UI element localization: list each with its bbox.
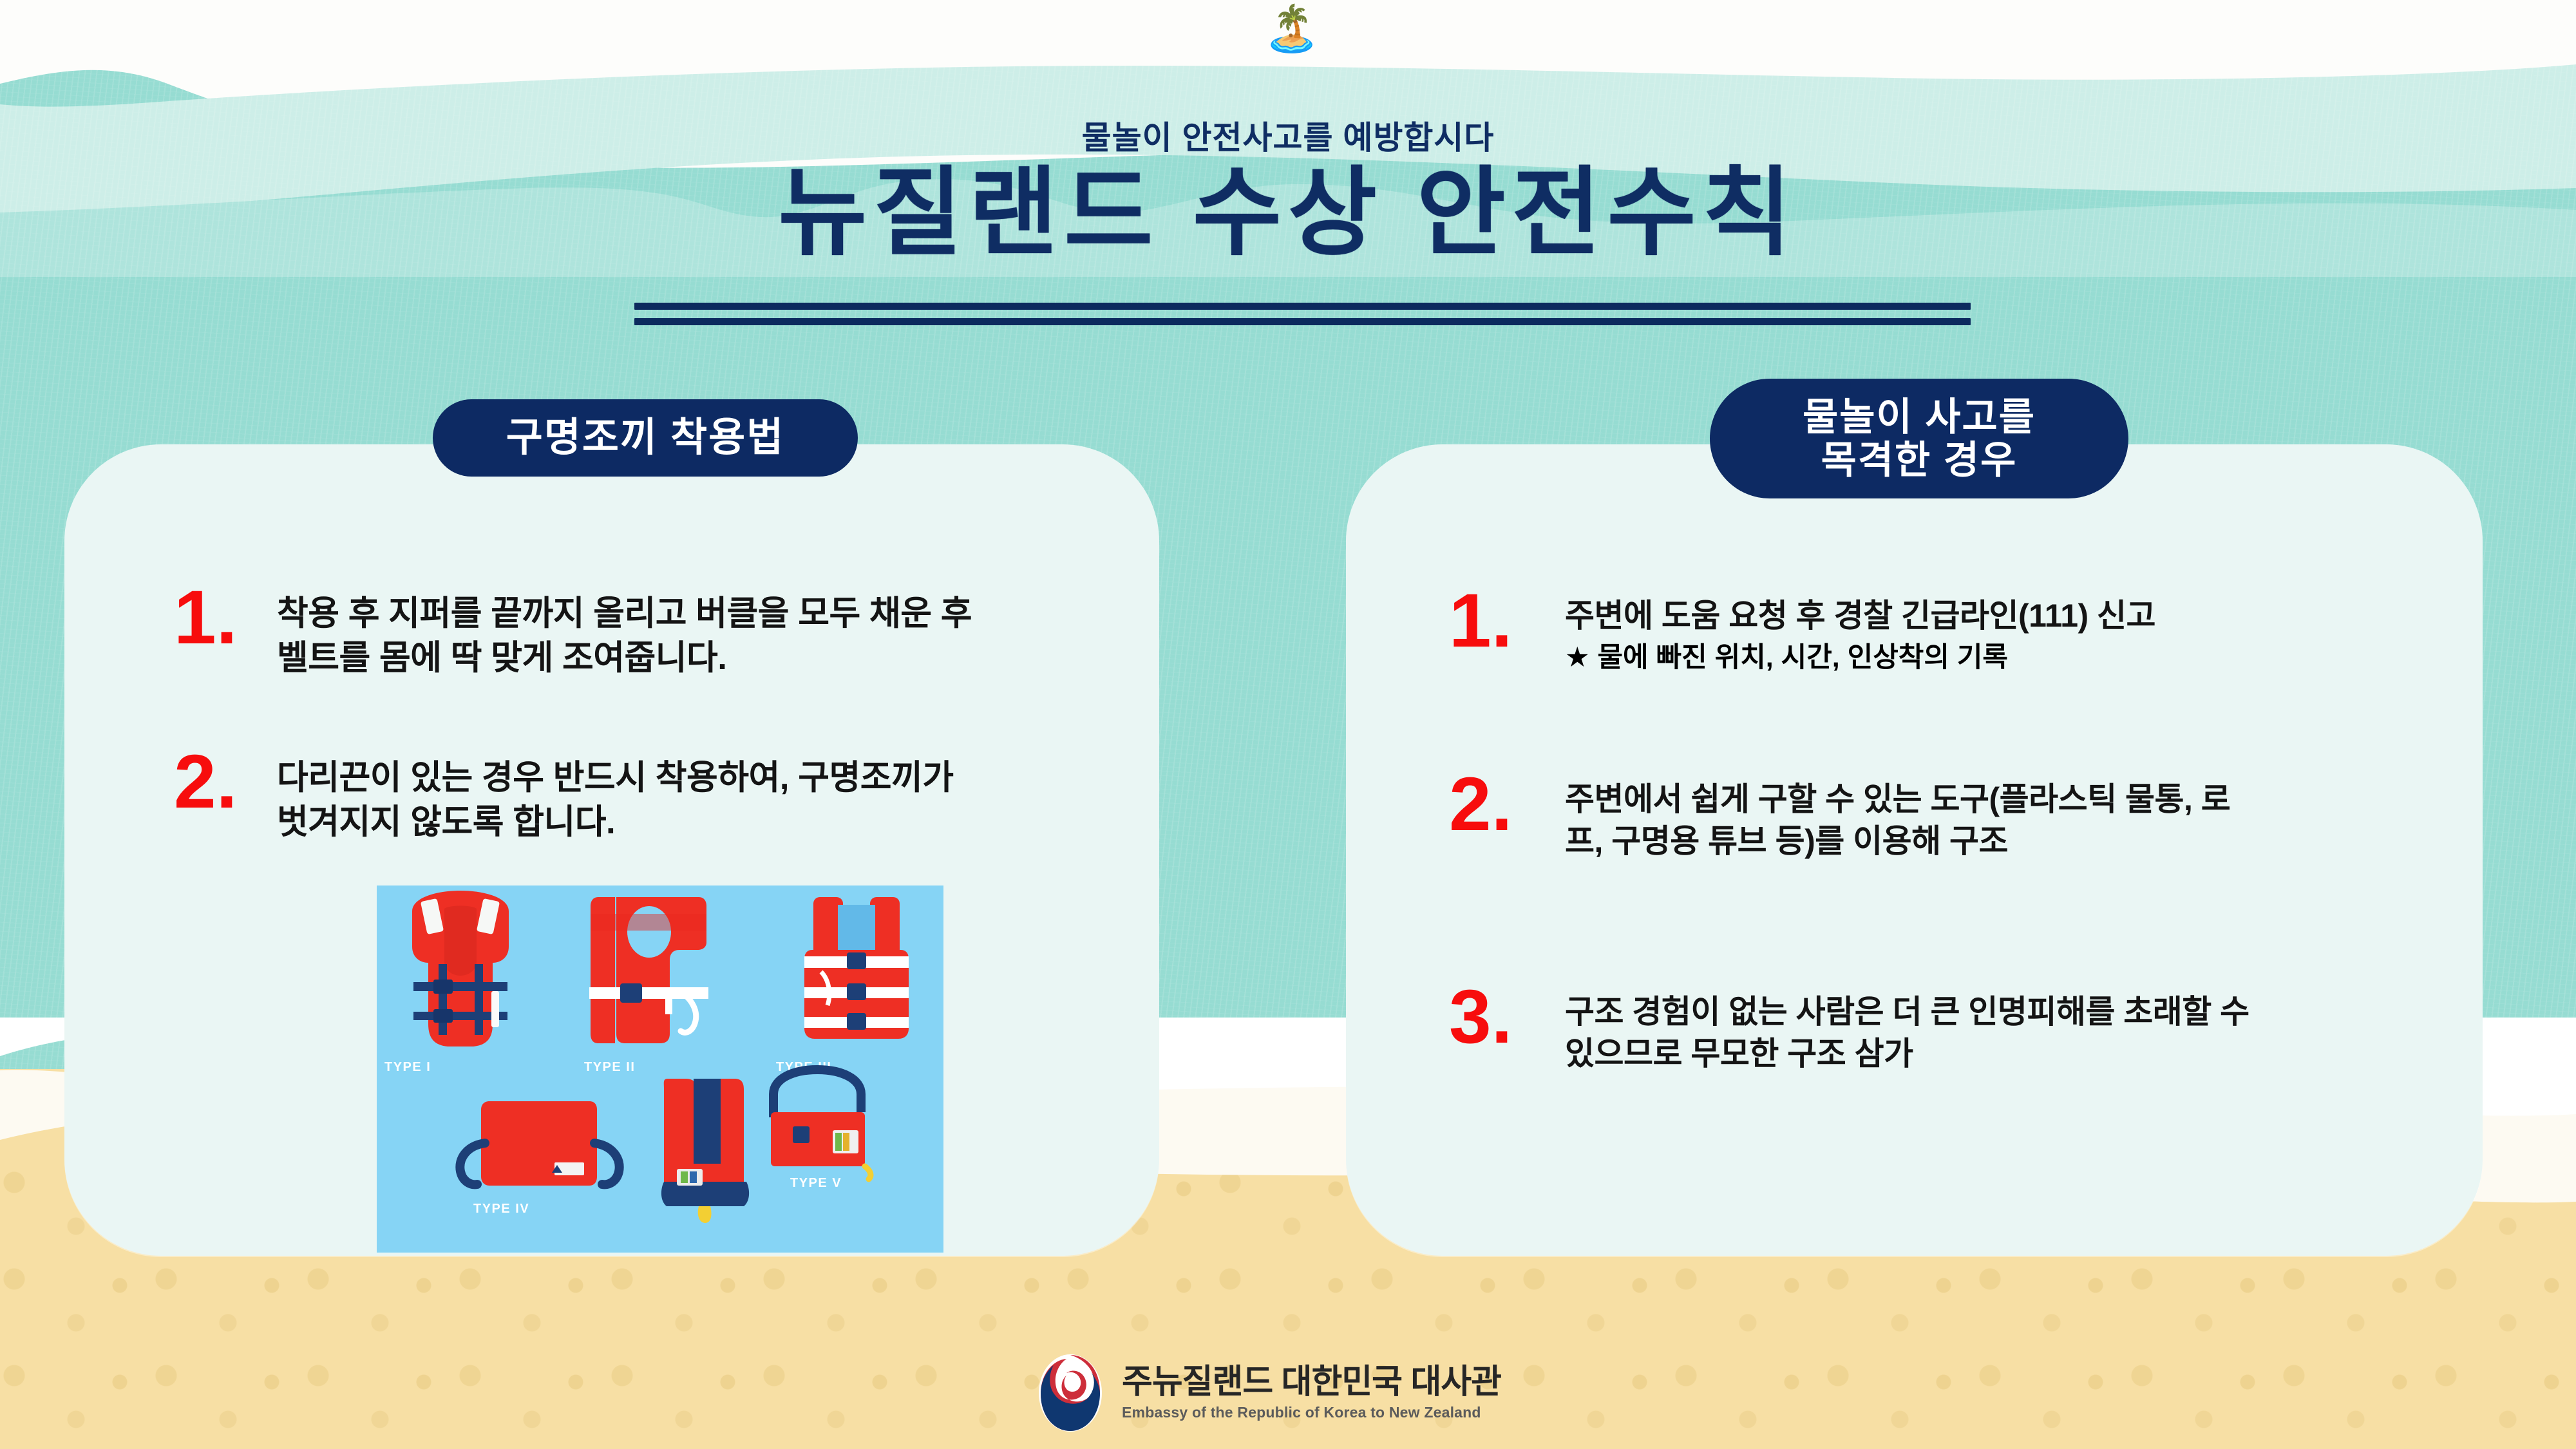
list-item: 1. 착용 후 지퍼를 끝까지 올리고 버클을 모두 채운 후 벨트를 몸에 딱… [174, 583, 1088, 681]
divider-line-bottom [634, 318, 1971, 325]
divider-line-top [634, 303, 1971, 310]
life-jacket-illustration: TYPE I TYPE II [377, 885, 943, 1253]
item-text: 구조 경험이 없는 사람은 더 큰 인명피해를 초래할 수 있으므로 무모한 구… [1565, 982, 2249, 1075]
jacket-label-type-4: TYPE IV [473, 1202, 529, 1216]
badge-witness-label: 물놀이 사고를 목격한 경우 [1803, 395, 2036, 482]
page-title: 뉴질랜드 수상 안전수칙 [0, 160, 2576, 266]
jacket-label-type-2: TYPE II [584, 1060, 635, 1074]
jacket-label-type-5: TYPE V [790, 1176, 842, 1190]
infographic-canvas: 🏝️ 물놀이 안전사고를 예방합시다 뉴질랜드 수상 안전수칙 구명조끼 착용법… [0, 0, 2576, 1449]
footer-text-block: 주뉴질랜드 대한민국 대사관 Embassy of the Republic o… [1122, 1365, 1501, 1422]
list-item: 3. 구조 경험이 없는 사람은 더 큰 인명피해를 초래할 수 있으므로 무모… [1449, 982, 2454, 1075]
item-text: 다리끈이 있는 경우 반드시 착용하여, 구명조끼가 벗겨지지 않도록 합니다. [277, 747, 954, 845]
item-number: 1. [1449, 586, 1565, 656]
footer-org-korean: 주뉴질랜드 대한민국 대사관 [1122, 1365, 1501, 1400]
badge-lifejacket-title: 구명조끼 착용법 [433, 399, 858, 477]
page-subtitle: 물놀이 안전사고를 예방합시다 [0, 112, 2576, 158]
badge-lifejacket-label: 구명조끼 착용법 [506, 415, 785, 460]
title-divider [634, 303, 1971, 325]
life-jacket-types-image: TYPE I TYPE II [377, 885, 943, 1253]
palm-island-icon: 🏝️ [1264, 4, 1314, 53]
footer-embassy-logo: 주뉴질랜드 대한민국 대사관 Embassy of the Republic o… [1036, 1348, 1551, 1438]
item-text: 착용 후 지퍼를 끝까지 올리고 버클을 모두 채운 후 벨트를 몸에 딱 맞게… [277, 583, 972, 681]
list-item: 2. 주변에서 쉽게 구할 수 있는 도구(플라스틱 물통, 로 프, 구명용 … [1449, 770, 2454, 862]
item-number: 2. [174, 747, 277, 817]
jacket-label-type-1: TYPE I [384, 1060, 431, 1074]
item-number: 1. [174, 583, 277, 653]
jacket-type-3 [804, 897, 909, 1039]
taegeuk-logo-icon [1036, 1351, 1105, 1435]
item-text: 주변에서 쉽게 구할 수 있는 도구(플라스틱 물통, 로 프, 구명용 튜브 … [1565, 770, 2230, 862]
list-item: 1. 주변에 도움 요청 후 경찰 긴급라인(111) 신고 ★ 물에 빠진 위… [1449, 586, 2454, 676]
item-text: 주변에 도움 요청 후 경찰 긴급라인(111) 신고 [1565, 586, 2155, 637]
jacket-type-4 [460, 1101, 619, 1186]
item-number: 3. [1449, 982, 1565, 1052]
jacket-type-2 [589, 897, 708, 1043]
jacket-type-5-beltpack [771, 1070, 871, 1179]
jacket-type-5-inflatable [661, 1079, 749, 1223]
jacket-type-1 [412, 891, 509, 1046]
badge-witness-title: 물놀이 사고를 목격한 경우 [1710, 379, 2128, 498]
list-item: 2. 다리끈이 있는 경우 반드시 착용하여, 구명조끼가 벗겨지지 않도록 합… [174, 747, 1088, 845]
item-subtext: ★ 물에 빠진 위치, 시간, 인상착의 기록 [1565, 639, 2155, 676]
footer-org-english: Embassy of the Republic of Korea to New … [1122, 1404, 1501, 1421]
item-number: 2. [1449, 770, 1565, 840]
